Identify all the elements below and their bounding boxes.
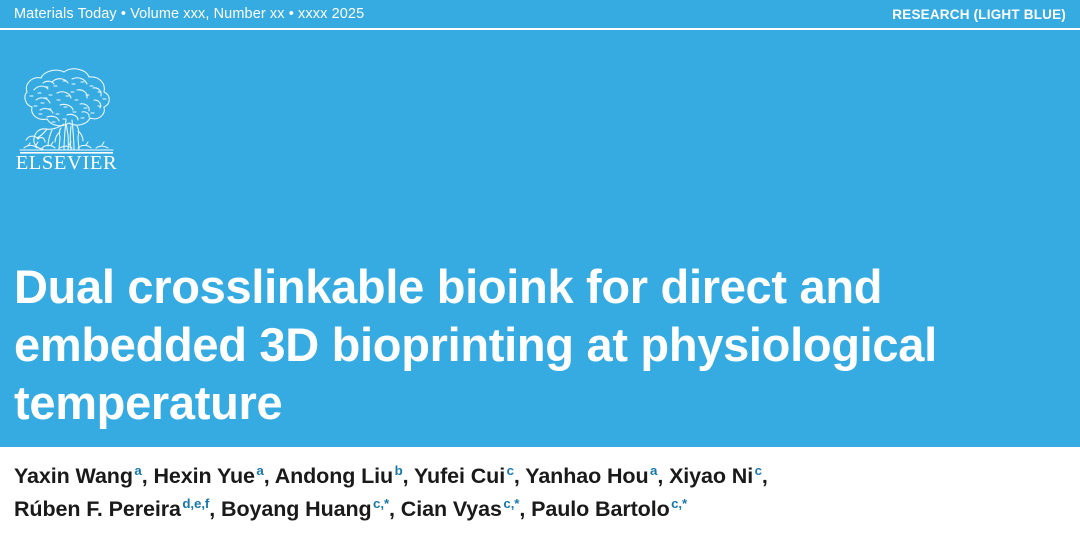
author-name: Hexin Yue — [153, 464, 254, 488]
running-head-journal-info: Materials Today • Volume xxx, Number xx … — [14, 6, 364, 22]
elsevier-tree-icon: ELSEVIER — [14, 62, 119, 170]
author-affiliation-marker: c,* — [372, 496, 390, 511]
author-name: Boyang Huang — [221, 497, 372, 521]
article-title: Dual crosslinkable bioink for direct and… — [14, 258, 1069, 432]
author-name: Andong Liu — [275, 464, 393, 488]
running-head-divider — [0, 28, 1080, 30]
author-list: Yaxin Wanga, Hexin Yuea, Andong Liub, Yu… — [14, 460, 1064, 526]
author-name: Yanhao Hou — [525, 464, 648, 488]
corresponding-author-marker: ,* — [678, 496, 687, 511]
author-affiliation-marker: c — [505, 463, 514, 478]
author-separator: , — [519, 497, 531, 521]
author-affiliation-marker: c,* — [502, 496, 520, 511]
corresponding-author-marker: ,* — [380, 496, 389, 511]
author-affiliation-marker: b — [393, 463, 403, 478]
author-separator: , — [762, 464, 768, 488]
author-separator: , — [142, 464, 154, 488]
author-name: Yufei Cui — [414, 464, 505, 488]
author-separator: , — [264, 464, 275, 488]
running-head: Materials Today • Volume xxx, Number xx … — [0, 0, 1080, 28]
author-line-2: Rúben F. Pereirad,e,f, Boyang Huangc,*, … — [14, 493, 1064, 526]
author-name: Cian Vyas — [401, 497, 502, 521]
author-affiliation-marker: a — [255, 463, 264, 478]
author-separator: , — [403, 464, 414, 488]
author-line-1: Yaxin Wanga, Hexin Yuea, Andong Liub, Yu… — [14, 460, 1064, 493]
author-name: Yaxin Wang — [14, 464, 133, 488]
author-separator: , — [657, 464, 669, 488]
author-name: Paulo Bartolo — [531, 497, 669, 521]
author-affiliation-marker: a — [133, 463, 142, 478]
author-name: Xiyao Ni — [669, 464, 753, 488]
author-affiliation-marker: c,* — [670, 496, 688, 511]
author-separator: , — [209, 497, 221, 521]
elsevier-wordmark: ELSEVIER — [16, 152, 118, 170]
running-head-section-label: RESEARCH (LIGHT BLUE) — [892, 7, 1066, 22]
author-separator: , — [514, 464, 525, 488]
author-affiliation-marker: c — [753, 463, 762, 478]
author-affiliation-marker: a — [649, 463, 658, 478]
author-separator: , — [389, 497, 401, 521]
author-affiliation-marker: d,e,f — [181, 496, 209, 511]
elsevier-logo: ELSEVIER — [14, 62, 119, 170]
author-name: Rúben F. Pereira — [14, 497, 181, 521]
